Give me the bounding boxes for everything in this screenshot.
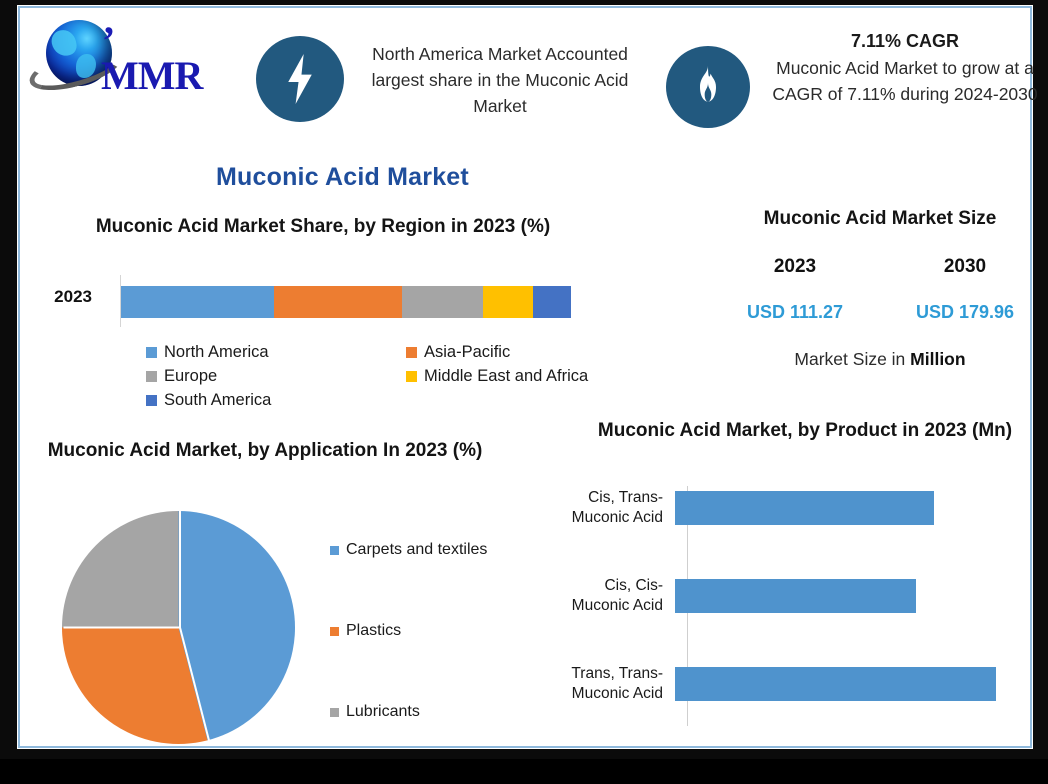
region-legend-label: Asia-Pacific [424, 343, 510, 362]
region-legend-item: Europe [146, 367, 406, 386]
product-chart-title: Muconic Acid Market, by Product in 2023 … [585, 416, 1025, 445]
legend-swatch-icon [330, 627, 339, 636]
market-size-panel: Muconic Acid Market Size 2023 2030 USD 1… [710, 208, 1048, 370]
cagr-note-block: 7.11% CAGR Muconic Acid Market to grow a… [760, 28, 1048, 107]
product-bar [675, 579, 916, 613]
product-category-label: Cis, Trans-Muconic Acid [540, 488, 675, 528]
market-size-unit-prefix: Market Size in [794, 349, 910, 369]
region-segment [274, 286, 402, 318]
region-stacked-bar [121, 286, 571, 318]
application-share-chart: Muconic Acid Market, by Application In 2… [20, 436, 540, 465]
market-size-year-2023: 2023 [710, 256, 880, 278]
region-axis-tick-2023: 2023 [20, 287, 92, 307]
north-america-note: North America Market Accounted largest s… [350, 41, 650, 119]
product-category-label: Cis, Cis-Muconic Acid [540, 576, 675, 616]
region-legend-item: South America [146, 391, 406, 410]
product-size-chart: Muconic Acid Market, by Product in 2023 … [540, 416, 1040, 445]
region-share-chart: Muconic Acid Market Share, by Region in … [20, 213, 630, 241]
market-size-unit: Million [910, 349, 965, 369]
product-bar-row: Cis, Trans-Muconic Acid [540, 486, 1040, 530]
region-legend-label: Middle East and Africa [424, 367, 588, 386]
market-size-year-2030: 2030 [880, 256, 1048, 278]
legend-swatch-icon [146, 347, 157, 358]
legend-swatch-icon [146, 371, 157, 382]
product-bar [675, 491, 934, 525]
legend-swatch-icon [330, 546, 339, 555]
application-legend-item: Plastics [330, 622, 545, 640]
region-plot-area [120, 275, 572, 327]
region-legend-item: North America [146, 343, 406, 362]
region-legend-label: South America [164, 391, 271, 410]
market-size-value-2023: USD 111.27 [710, 302, 880, 323]
region-legend-item: Middle East and Africa [406, 367, 626, 386]
product-bar-track [675, 486, 1040, 530]
product-bar-row: Trans, Trans-Muconic Acid [540, 662, 1040, 706]
region-segment [533, 286, 571, 318]
flame-icon [666, 46, 750, 128]
market-size-value-2030: USD 179.96 [880, 302, 1048, 323]
application-legend-item: Lubricants [330, 703, 545, 721]
cagr-note: Muconic Acid Market to grow at a CAGR of… [772, 58, 1037, 104]
application-chart-title: Muconic Acid Market, by Application In 2… [30, 436, 500, 465]
pie-slice-divider [179, 627, 210, 740]
region-legend: North AmericaAsia-PacificEuropeMiddle Ea… [146, 343, 626, 410]
region-segment [483, 286, 533, 318]
pie-slice-divider [63, 627, 180, 629]
page-title: Muconic Acid Market [216, 163, 469, 192]
product-plot-area: Cis, Trans-Muconic AcidCis, Cis-Muconic … [540, 486, 1040, 746]
region-segment [402, 286, 483, 318]
logo-text: MMR [101, 52, 202, 99]
product-bar [675, 667, 996, 701]
application-legend-item: Carpets and textiles [330, 541, 545, 559]
product-bar-track [675, 662, 1040, 706]
legend-swatch-icon [330, 708, 339, 717]
legend-swatch-icon [406, 371, 417, 382]
market-size-years: 2023 2030 [710, 256, 1048, 278]
lightning-bolt-icon [256, 36, 344, 122]
application-legend: Carpets and textilesPlasticsLubricants [330, 541, 545, 784]
header-band: ’ MMR North America Market Accounted lar… [20, 8, 1030, 138]
pie-slice-divider [179, 511, 181, 628]
market-size-title: Muconic Acid Market Size [710, 208, 1048, 230]
application-legend-label: Plastics [346, 622, 401, 640]
application-pie [62, 511, 295, 744]
product-bar-row: Cis, Cis-Muconic Acid [540, 574, 1040, 618]
region-chart-title: Muconic Acid Market Share, by Region in … [38, 213, 608, 241]
product-category-label: Trans, Trans-Muconic Acid [540, 664, 675, 704]
market-size-unit-note: Market Size in Million [710, 349, 1048, 370]
cagr-headline: 7.11% CAGR [760, 28, 1048, 54]
region-legend-item: Asia-Pacific [406, 343, 626, 362]
application-legend-label: Carpets and textiles [346, 541, 487, 559]
region-segment [121, 286, 274, 318]
application-legend-label: Lubricants [346, 703, 420, 721]
region-legend-label: Europe [164, 367, 217, 386]
legend-swatch-icon [146, 395, 157, 406]
market-size-values: USD 111.27 USD 179.96 [710, 302, 1048, 323]
product-bar-track [675, 574, 1040, 618]
legend-swatch-icon [406, 347, 417, 358]
region-legend-label: North America [164, 343, 269, 362]
infographic-canvas: ’ MMR North America Market Accounted lar… [18, 6, 1032, 748]
image-frame: ’ MMR North America Market Accounted lar… [0, 0, 1048, 759]
mmr-logo: ’ MMR [28, 16, 228, 100]
